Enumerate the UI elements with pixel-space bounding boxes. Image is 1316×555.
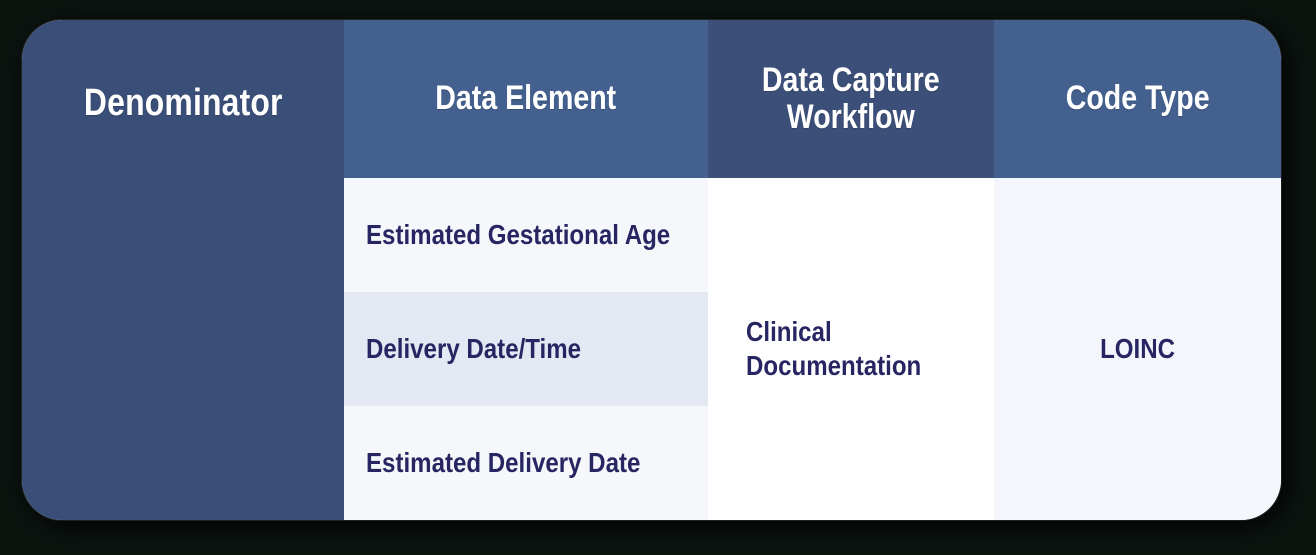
column-code-type: Code Type LOINC [994, 20, 1281, 520]
column-header-data-element: Data Element [344, 20, 708, 178]
column-header-denominator: Denominator [84, 82, 283, 125]
data-element-table-card: Denominator Data Element Estimated Gesta… [22, 20, 1281, 520]
data-element-cells: Estimated Gestational Age Delivery Date/… [344, 178, 708, 520]
cell-data-element-1: Estimated Gestational Age [366, 219, 670, 251]
table-row: Delivery Date/Time [344, 292, 708, 406]
column-header-code-type: Code Type [994, 20, 1281, 178]
header-line-2: Workflow [787, 98, 915, 136]
screenshot-stage: Denominator Data Element Estimated Gesta… [0, 0, 1316, 555]
cell-data-element-2: Delivery Date/Time [366, 333, 581, 365]
column-header-data-element-label: Data Element [436, 80, 617, 117]
column-data-capture-workflow: Data Capture Workflow Clinical Documenta… [708, 20, 994, 520]
column-header-code-type-label: Code Type [1066, 80, 1210, 117]
cell-code-type-value: LOINC [1100, 332, 1175, 366]
code-type-merged-cell: LOINC [994, 178, 1281, 520]
cell-data-capture-workflow-value: Clinical Documentation [746, 315, 921, 383]
column-denominator: Denominator [22, 20, 344, 520]
data-capture-workflow-merged-cell: Clinical Documentation [708, 178, 994, 520]
column-data-element: Data Element Estimated Gestational Age D… [344, 20, 708, 520]
workflow-line-2: Documentation [746, 350, 921, 381]
column-header-data-capture-workflow: Data Capture Workflow [708, 20, 994, 178]
table-row: Estimated Gestational Age [344, 178, 708, 292]
table-row: Estimated Delivery Date [344, 406, 708, 520]
column-header-data-capture-workflow-label: Data Capture Workflow [762, 62, 940, 137]
workflow-line-1: Clinical [746, 316, 832, 347]
header-line-1: Data Capture [762, 61, 940, 99]
cell-data-element-3: Estimated Delivery Date [366, 447, 640, 479]
